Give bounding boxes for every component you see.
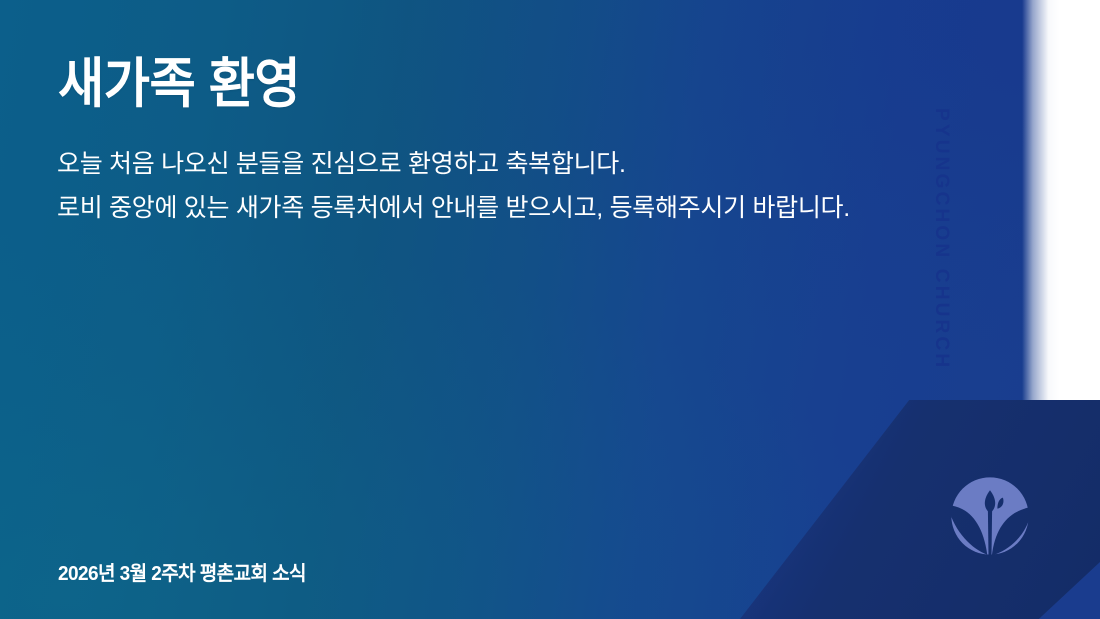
- brand-side-label: PYUNGCHON CHURCH: [1054, 108, 1086, 408]
- slide-body-copy: 오늘 처음 나오신 분들을 진심으로 환영하고 축복합니다. 로비 중앙에 있는…: [57, 142, 1007, 230]
- body-line-2: 로비 중앙에 있는 새가족 등록처에서 안내를 받으시고, 등록해주시기 바랍니…: [57, 186, 1007, 230]
- slide-footer-note: 2026년 3월 2주차 평촌교회 소식: [58, 557, 306, 586]
- body-line-1: 오늘 처음 나오신 분들을 진심으로 환영하고 축복합니다.: [57, 142, 1007, 186]
- announcement-slide: PYUNGCHON CHURCH: [0, 0, 1100, 619]
- slide-headline: 새가족 환영: [58, 55, 300, 113]
- church-flower-emblem-icon: [944, 470, 1036, 562]
